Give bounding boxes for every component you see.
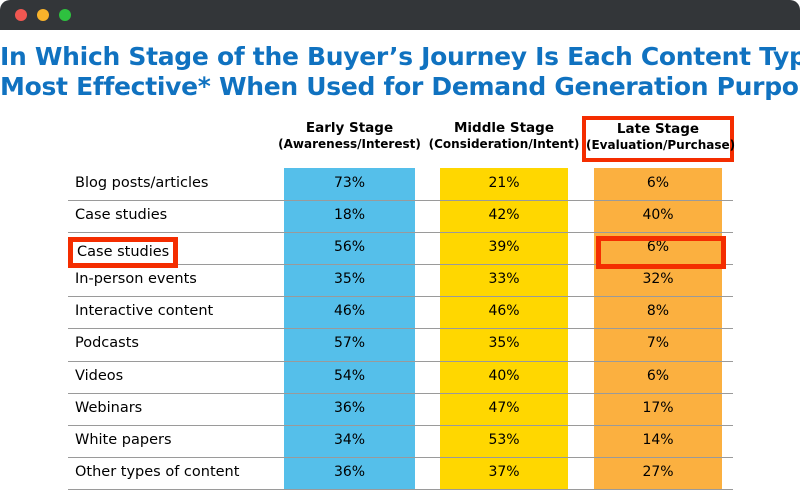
page-title: In Which Stage of the Buyer’s Journey Is… (0, 42, 800, 102)
table-row[interactable]: Other types of content36%37%27% (0, 457, 800, 489)
row-label: Videos (75, 361, 123, 392)
data-table: Blog posts/articles73%21%6%Case studies1… (0, 168, 800, 489)
cell-late: 8% (594, 296, 722, 327)
cell-early: 35% (284, 264, 415, 295)
page-title-line-2: Most Effective* When Used for Demand Gen… (0, 72, 800, 102)
cell-late: 27% (594, 457, 722, 488)
cell-middle: 35% (440, 328, 568, 359)
app-window: In Which Stage of the Buyer’s Journey Is… (0, 0, 800, 502)
window-titlebar (0, 0, 800, 30)
table-row[interactable]: Blog posts/articles73%21%6% (0, 168, 800, 200)
cell-early: 46% (284, 296, 415, 327)
column-header-middle-title: Middle Stage (428, 120, 580, 136)
cell-middle: 21% (440, 168, 568, 199)
cell-late: 7% (594, 328, 722, 359)
column-header-middle: Middle Stage (Consideration/Intent) (428, 117, 580, 161)
cell-early: 34% (284, 425, 415, 456)
column-header-late-title: Late Stage (586, 121, 730, 137)
close-button[interactable] (15, 9, 27, 21)
row-label: Webinars (75, 393, 142, 424)
cell-late: 6% (594, 168, 722, 199)
cell-late: 6% (594, 361, 722, 392)
cell-early: 73% (284, 168, 415, 199)
cell-late: 40% (594, 200, 722, 231)
cell-early: 36% (284, 393, 415, 424)
cell-late: 14% (594, 425, 722, 456)
page-title-line-1: In Which Stage of the Buyer’s Journey Is… (0, 42, 800, 72)
table-row[interactable]: Case studies18%42%40% (0, 200, 800, 232)
row-label: Interactive content (75, 296, 213, 327)
table-row[interactable]: In-person events35%33%32% (0, 264, 800, 296)
row-label: Podcasts (75, 328, 139, 359)
table-row[interactable]: Videos54%40%6% (0, 361, 800, 393)
row-separator (68, 489, 733, 490)
cell-middle: 46% (440, 296, 568, 327)
column-header-late-highlighted: Late Stage (Evaluation/Purchase) (582, 116, 734, 162)
table-row[interactable]: Webinars36%47%17% (0, 393, 800, 425)
row-label: Other types of content (75, 457, 239, 488)
cell-early: 57% (284, 328, 415, 359)
minimize-button[interactable] (37, 9, 49, 21)
table-row[interactable]: Interactive content46%46%8% (0, 296, 800, 328)
row-label: Blog posts/articles (75, 168, 208, 199)
cell-early: 18% (284, 200, 415, 231)
row-label: White papers (75, 425, 172, 456)
cell-middle: 42% (440, 200, 568, 231)
cell-middle: 47% (440, 393, 568, 424)
cell-middle: 33% (440, 264, 568, 295)
cell-middle: 39% (440, 232, 568, 263)
cell-middle: 53% (440, 425, 568, 456)
column-header-early-subtitle: (Awareness/Interest) (274, 136, 425, 152)
column-header-late-subtitle: (Evaluation/Purchase) (586, 137, 730, 153)
cell-early: 56% (284, 232, 415, 263)
cell-middle: 40% (440, 361, 568, 392)
highlight-box-case-studies: Case studies (68, 237, 178, 268)
cell-middle: 37% (440, 457, 568, 488)
cell-late: 17% (594, 393, 722, 424)
highlight-label-case-studies: Case studies (73, 242, 173, 263)
column-header-early-title: Early Stage (274, 120, 425, 136)
column-header-middle-subtitle: (Consideration/Intent) (428, 136, 580, 152)
maximize-button[interactable] (59, 9, 71, 21)
row-label: In-person events (75, 264, 197, 295)
table-row[interactable]: White papers34%53%14% (0, 425, 800, 457)
table-row[interactable]: Podcasts57%35%7% (0, 328, 800, 360)
content-canvas: In Which Stage of the Buyer’s Journey Is… (0, 30, 800, 502)
column-header-early: Early Stage (Awareness/Interest) (274, 117, 425, 161)
cell-early: 36% (284, 457, 415, 488)
highlight-box-late-case-studies (596, 236, 726, 269)
row-label: Case studies (75, 200, 167, 231)
cell-early: 54% (284, 361, 415, 392)
